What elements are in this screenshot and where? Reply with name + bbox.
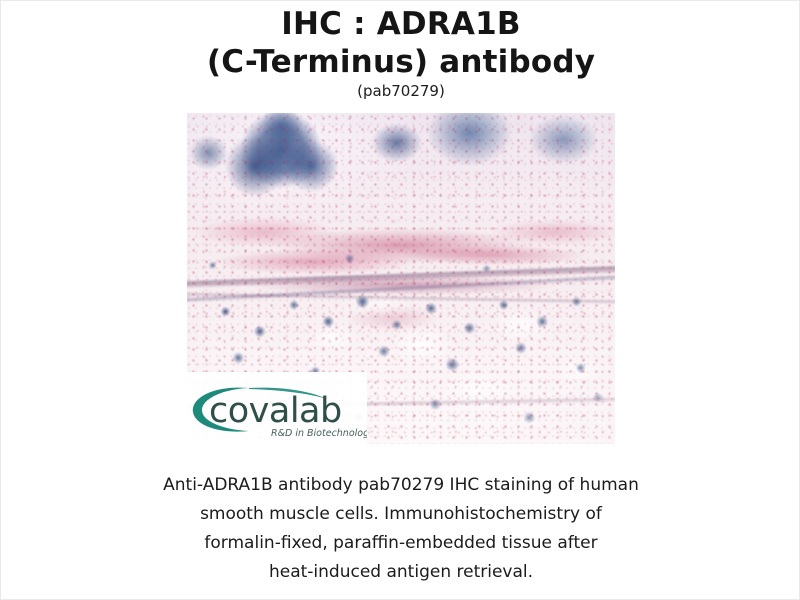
page-title-line-2: (C-Terminus) antibody [1, 43, 800, 81]
caption-line-3: formalin-fixed, paraffin-embedded tissue… [61, 529, 741, 558]
caption-line-1: Anti-ADRA1B antibody pab70279 IHC staini… [61, 471, 741, 500]
caption-line-4: heat-induced antigen retrieval. [61, 558, 741, 587]
catalog-number: (pab70279) [1, 82, 800, 100]
ihc-micrograph-image: covalab R&D in Biotechnology [187, 113, 615, 444]
page-title-line-1: IHC : ADRA1B [1, 5, 800, 43]
covalab-logo-svg: covalab R&D in Biotechnology [187, 372, 367, 444]
caption-line-2: smooth muscle cells. Immunohistochemistr… [61, 500, 741, 529]
logo-tagline: R&D in Biotechnology [271, 428, 367, 439]
title-block: IHC : ADRA1B (C-Terminus) antibody (pab7… [1, 5, 800, 100]
figure-page: IHC : ADRA1B (C-Terminus) antibody (pab7… [0, 0, 800, 600]
figure-caption: Anti-ADRA1B antibody pab70279 IHC staini… [61, 471, 741, 587]
covalab-logo-watermark: covalab R&D in Biotechnology [187, 372, 367, 444]
logo-wordmark: covalab [209, 391, 342, 431]
